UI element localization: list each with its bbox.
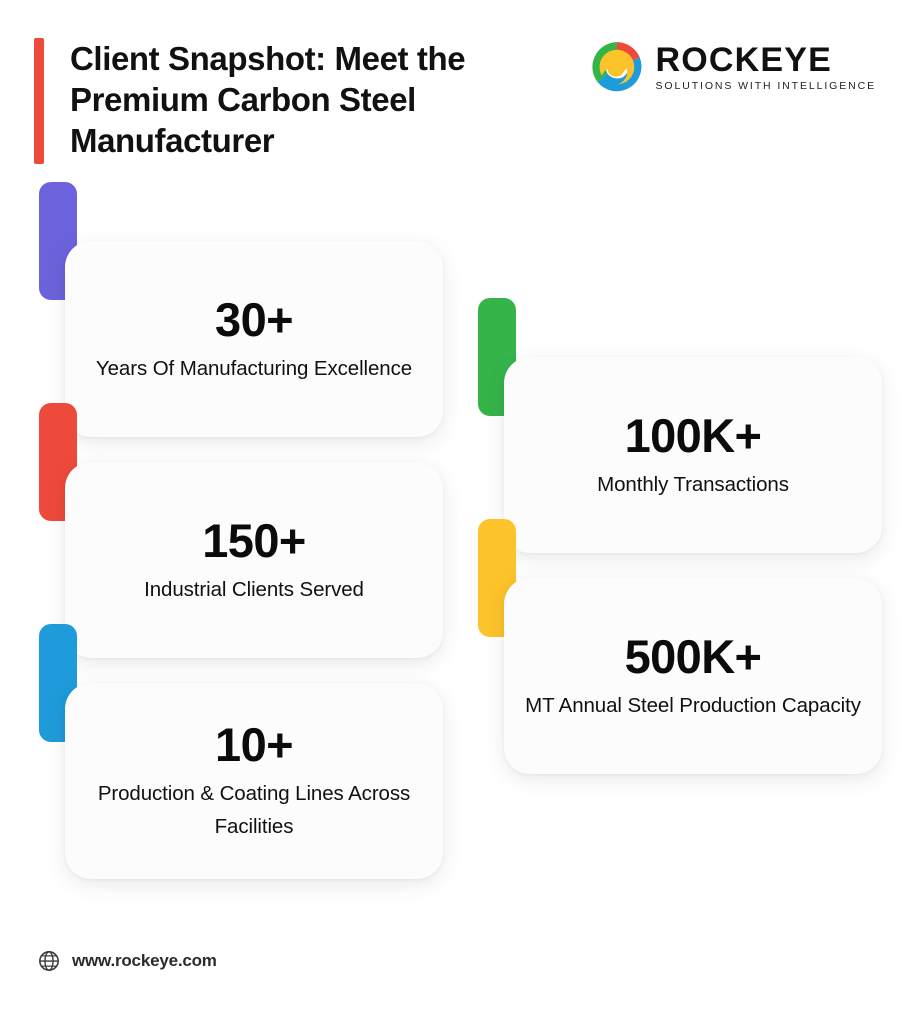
stat-number: 10+ — [215, 719, 293, 771]
stat-card-body: 30+ Years Of Manufacturing Excellence — [65, 241, 443, 437]
logo-text-block: ROCKEYE SOLUTIONS WITH INTELLIGENCE — [656, 42, 877, 93]
logo-name: ROCKEYE — [656, 42, 877, 78]
title-block: Client Snapshot: Meet the Premium Carbon… — [34, 38, 540, 164]
page-title: Client Snapshot: Meet the Premium Carbon… — [70, 38, 540, 164]
logo-tagline: SOLUTIONS WITH INTELLIGENCE — [656, 79, 877, 93]
stat-label: Years Of Manufacturing Excellence — [96, 352, 412, 385]
header: Client Snapshot: Meet the Premium Carbon… — [0, 0, 920, 190]
stat-number: 500K+ — [625, 631, 762, 683]
stat-card-body: 150+ Industrial Clients Served — [65, 462, 443, 658]
title-accent-bar — [34, 38, 44, 164]
rockeye-swirl-logo-icon — [590, 40, 644, 94]
footer[interactable]: www.rockeye.com — [38, 950, 217, 972]
stat-number: 100K+ — [625, 410, 762, 462]
brand-logo: ROCKEYE SOLUTIONS WITH INTELLIGENCE — [590, 40, 877, 94]
stat-label: MT Annual Steel Production Capacity — [525, 689, 861, 722]
stat-card-body: 500K+ MT Annual Steel Production Capacit… — [504, 578, 882, 774]
stat-card-body: 100K+ Monthly Transactions — [504, 357, 882, 553]
globe-icon — [38, 950, 60, 972]
stat-label: Production & Coating Lines Across Facili… — [84, 777, 424, 843]
stat-number: 30+ — [215, 294, 293, 346]
stat-number: 150+ — [202, 515, 305, 567]
stat-label: Monthly Transactions — [597, 468, 789, 501]
infographic-page: Client Snapshot: Meet the Premium Carbon… — [0, 0, 920, 1024]
stat-label: Industrial Clients Served — [144, 573, 364, 606]
stat-card-body: 10+ Production & Coating Lines Across Fa… — [65, 683, 443, 879]
footer-url[interactable]: www.rockeye.com — [72, 951, 217, 971]
